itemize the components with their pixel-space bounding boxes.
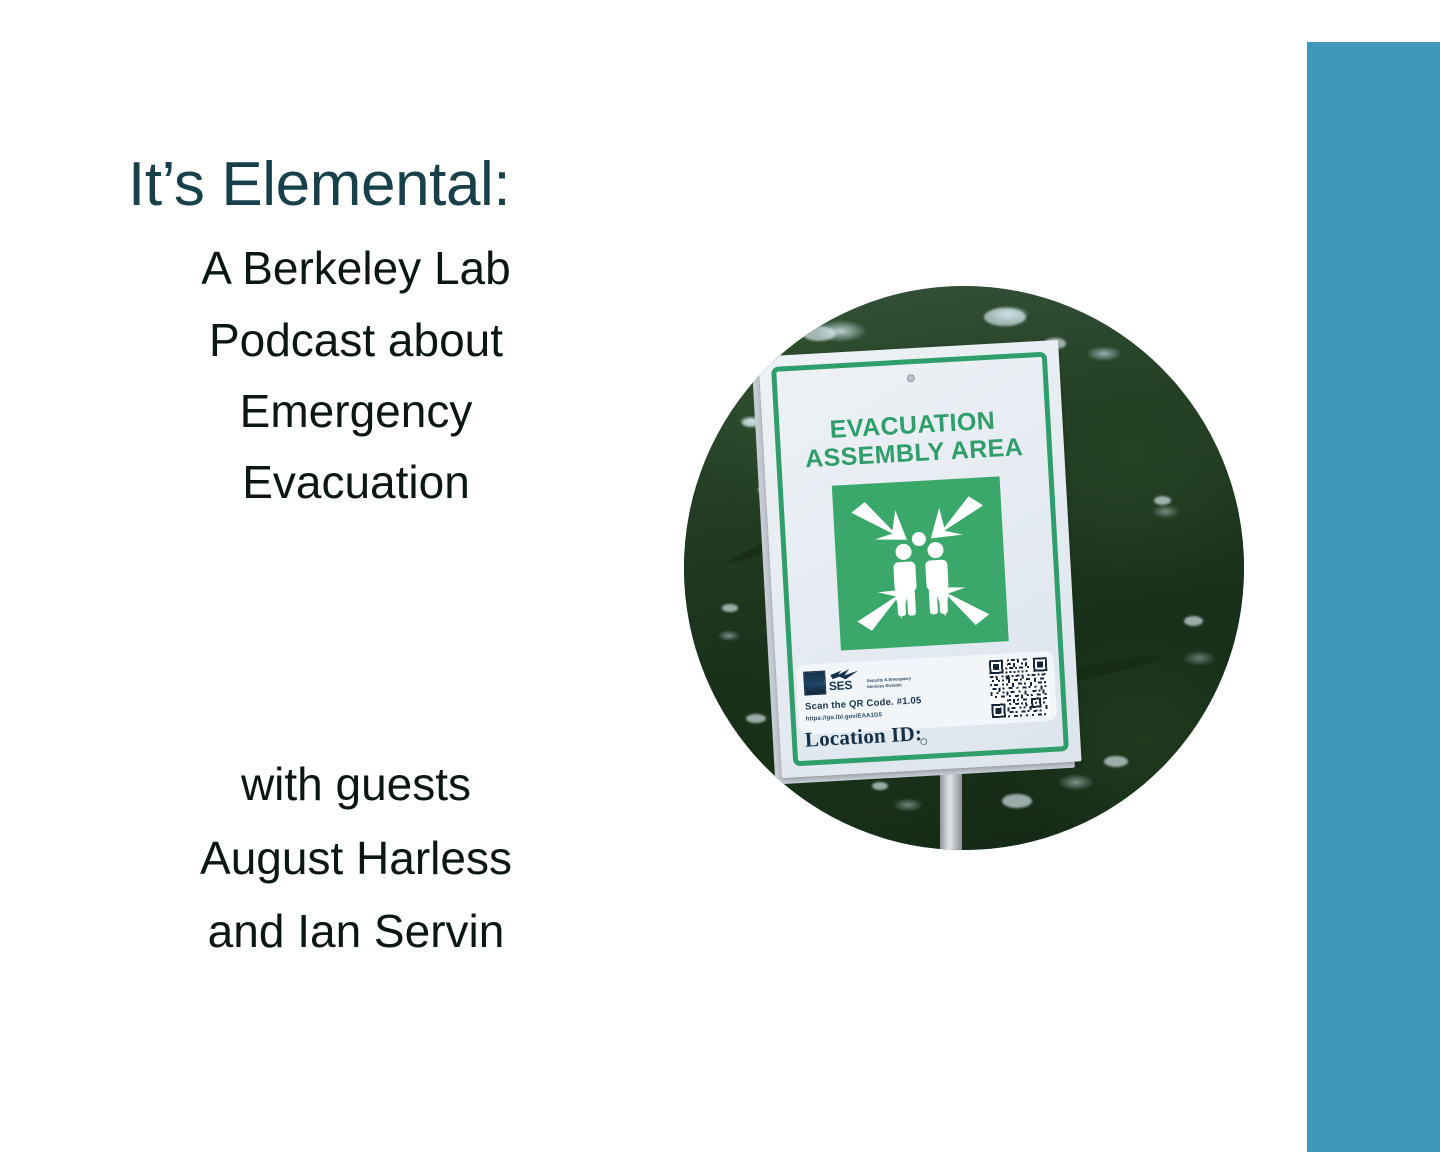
guest-name-1: August Harless [96, 822, 616, 896]
sky-highlight [872, 782, 888, 790]
sky-highlight [1154, 496, 1171, 505]
ses-wordmark: SES [829, 678, 853, 693]
podcast-title-slide: It’s Elemental: A Berkeley Lab Podcast a… [0, 0, 1440, 1152]
ses-subtitle: Security & Emergency Services Division [867, 674, 946, 690]
qr-code-icon [989, 657, 1050, 718]
subtitle-line-1: A Berkeley Lab [96, 233, 616, 304]
scan-qr-text: Scan the QR Code. #1.05 [805, 695, 922, 712]
sky-highlight [722, 604, 738, 612]
evacuation-sign-board: EVACUATION ASSEMBLY AREA [758, 340, 1081, 778]
evacuation-sign-photo: EVACUATION ASSEMBLY AREA [684, 286, 1244, 850]
subtitle-line-4: Evacuation [96, 447, 616, 518]
assembly-area-pictogram-svg [832, 476, 1009, 650]
sky-highlight [802, 326, 836, 341]
sky-highlight [1184, 616, 1203, 626]
title-block: It’s Elemental: A Berkeley Lab Podcast a… [96, 150, 616, 519]
lbnl-logo-icon [803, 670, 826, 695]
page-title: It’s Elemental: [96, 150, 616, 219]
subtitle-line-3: Emergency [96, 376, 616, 447]
sky-highlight [746, 714, 766, 723]
sky-highlight [1002, 794, 1032, 808]
sky-highlight [984, 308, 1026, 326]
sign-face: EVACUATION ASSEMBLY AREA [758, 340, 1081, 778]
qr-info-card: SES Security & Emergency Services Divisi… [796, 651, 1058, 735]
guests-block: with guests August Harless and Ian Servi… [96, 748, 616, 969]
subtitle-line-2: Podcast about [96, 305, 616, 376]
accent-bar [1307, 42, 1440, 1152]
sky-highlight [1104, 756, 1128, 767]
assembly-area-pictogram [832, 476, 1009, 650]
guest-name-2: and Ian Servin [96, 895, 616, 969]
scan-qr-url: https://go.lbl.gov/EAA1G5 [806, 712, 883, 722]
guests-label: with guests [96, 748, 616, 822]
